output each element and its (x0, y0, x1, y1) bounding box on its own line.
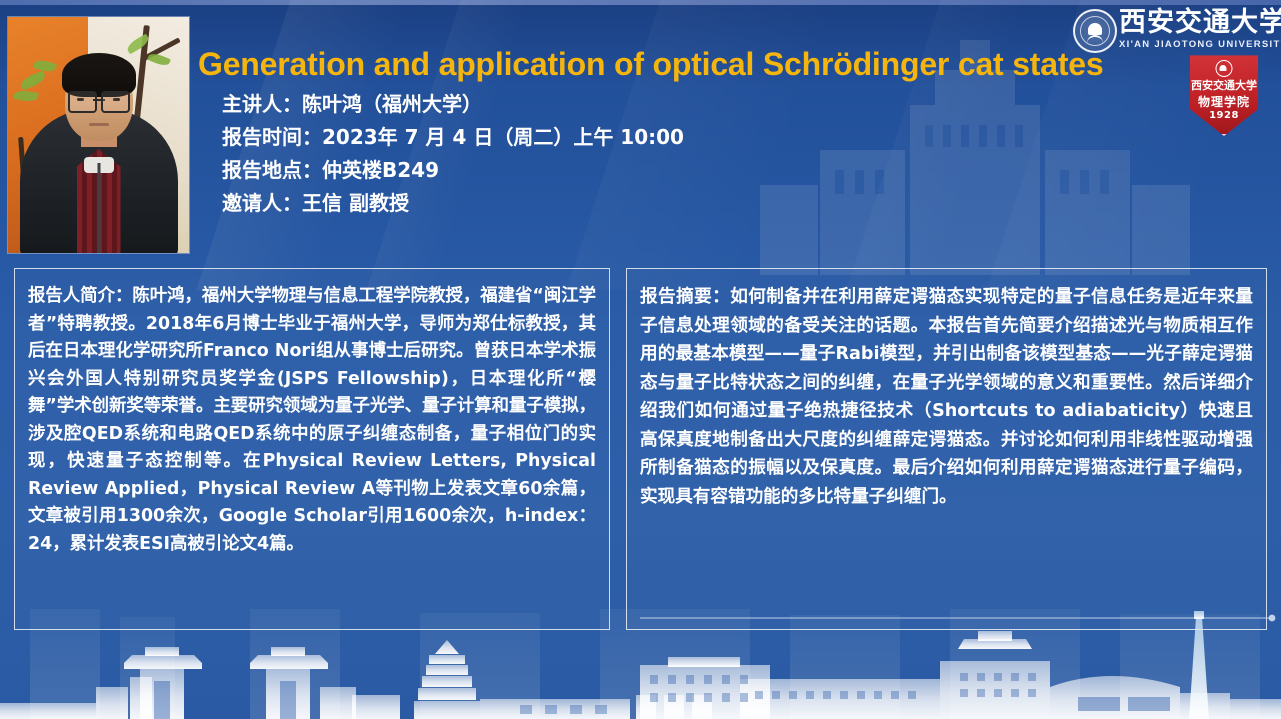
university-name-en: XI'AN JIAOTONG UNIVERSITY (1119, 39, 1273, 50)
talk-abstract-text: 报告摘要：如何制备并在利用薛定谔猫态实现特定的量子信息任务是近年来量子信息处理领… (640, 283, 1253, 511)
host-line: 邀请人：王信 副教授 (198, 186, 1131, 219)
crest-emblem-icon (1216, 60, 1233, 77)
city-skyline-decoration (0, 609, 1281, 719)
venue-line: 报告地点：仲英楼B249 (198, 153, 1131, 186)
seminar-poster: 西安交通大学 XI'AN JIAOTONG UNIVERSITY 西安交通大学 … (0, 0, 1281, 719)
speaker-photo (8, 17, 189, 253)
crest-founding-year: 1928 (1187, 110, 1261, 121)
physics-school-crest: 西安交通大学 物理学院 1928 (1187, 52, 1261, 136)
speaker-bio-text: 报告人简介：陈叶鸿，福州大学物理与信息工程学院教授，福建省“闽江学者”特聘教授。… (28, 283, 596, 558)
page-title: Generation and application of optical Sc… (198, 46, 1131, 83)
speaker-bio-box: 报告人简介：陈叶鸿，福州大学物理与信息工程学院教授，福建省“闽江学者”特聘教授。… (14, 268, 610, 630)
crest-school-name: 物理学院 (1187, 93, 1261, 110)
time-line: 报告时间：2023年 7 月 4 日（周二）上午 10:00 (198, 120, 1131, 153)
crest-university-name: 西安交通大学 (1187, 77, 1261, 93)
eyeglasses-icon (68, 91, 130, 109)
university-name-cn: 西安交通大学 (1119, 6, 1273, 39)
mouth (89, 123, 109, 126)
talk-abstract-box: 报告摘要：如何制备并在利用薛定谔猫态实现特定的量子信息任务是近年来量子信息处理领… (626, 268, 1267, 630)
top-accent-stripe (0, 0, 1281, 5)
speaker-line: 主讲人：陈叶鸿（福州大学） (198, 87, 1131, 120)
jacket-zipper (97, 163, 100, 253)
header-block: Generation and application of optical Sc… (198, 46, 1131, 219)
